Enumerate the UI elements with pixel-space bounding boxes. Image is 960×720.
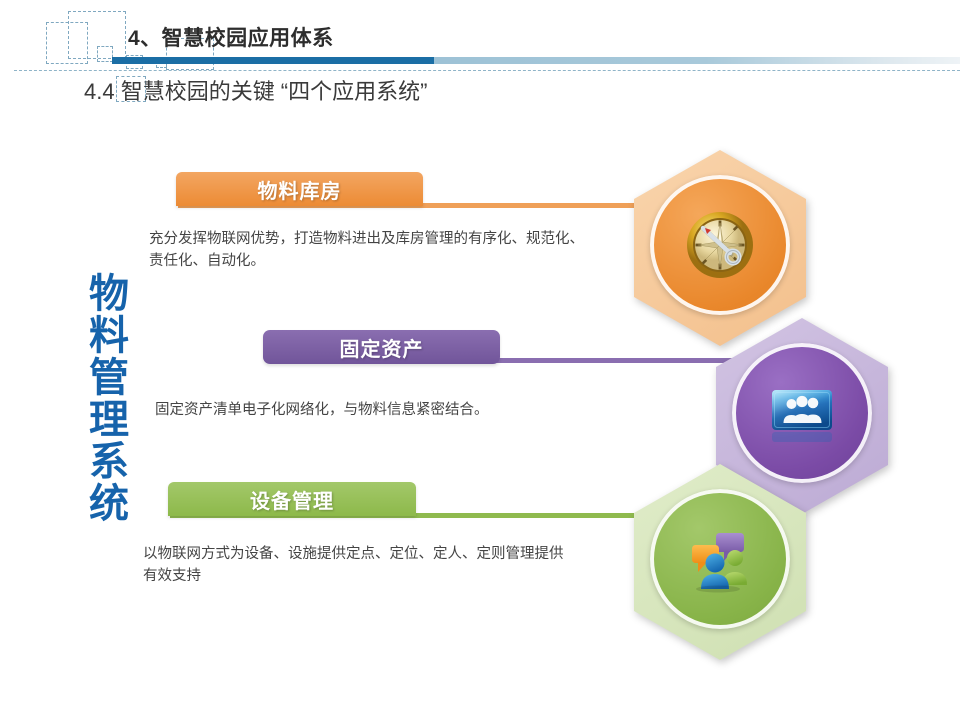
body-fixed-assets: 固定资产清单电子化网络化，与物料信息紧密结合。 [155,399,675,421]
label-text: 物料库房 [258,175,342,204]
label-fixed-assets[interactable]: 固定资产 [263,330,500,364]
icon-circle-orange [650,175,790,315]
presentation-people-icon [766,377,838,449]
vertical-system-title: 物料管理系统 [62,272,126,524]
label-equipment-management[interactable]: 设备管理 [168,482,416,516]
hexagon-equipment-management[interactable] [634,464,806,660]
header-divider [112,57,960,64]
compass-icon [684,209,756,281]
header-dotted-line [14,70,960,71]
page-title: 4、智慧校园应用体系 [128,22,334,52]
hexagon-material-warehouse[interactable] [634,150,806,346]
body-equipment-management: 以物联网方式为设备、设施提供定点、定位、定人、定则管理提供 有效支持 [143,543,643,588]
page-subtitle: 4.4 智慧校园的关键 “四个应用系统” [84,74,427,106]
icon-circle-purple [732,343,872,483]
deco-square-3 [97,46,113,62]
label-text: 固定资产 [340,333,424,362]
label-text: 设备管理 [250,485,334,514]
label-material-warehouse[interactable]: 物料库房 [176,172,423,206]
chat-people-icon [684,523,756,595]
icon-circle-green [650,489,790,629]
body-material-warehouse: 充分发挥物联网优势，打造物料进出及库房管理的有序化、规范化、 责任化、自动化。 [149,228,649,273]
